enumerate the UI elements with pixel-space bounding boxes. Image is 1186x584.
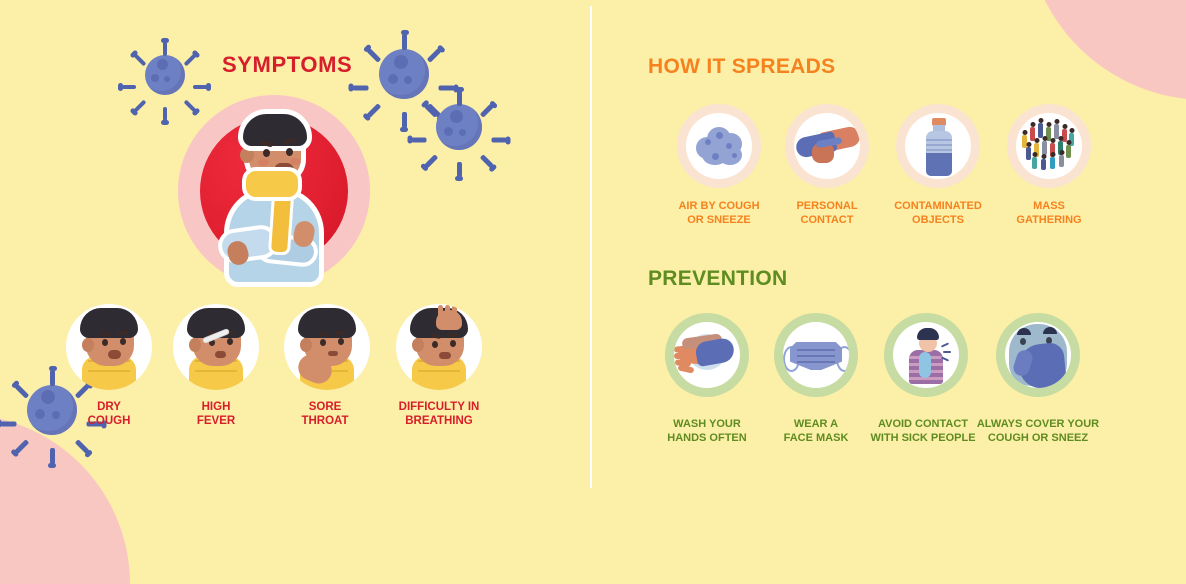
prevention-label-line2: COUGH OR SNEEZ <box>968 432 1108 446</box>
spread-icon-contaminated-objects <box>896 104 980 188</box>
symptom-label-line2: COUGH <box>49 414 169 428</box>
prevention-icon-cover-cough <box>996 313 1080 397</box>
symptom-label-line2: THROAT <box>265 414 385 428</box>
prevention-label-line1: ALWAYS COVER YOUR <box>968 418 1108 432</box>
cover-cough-icon <box>1005 322 1071 388</box>
prevention-heading: PREVENTION <box>648 267 788 291</box>
symptom-icon-sore-throat <box>284 304 370 390</box>
spreads-heading: HOW IT SPREADS <box>648 55 835 79</box>
water-bottle-icon <box>905 113 971 179</box>
symptom-label-difficulty-breathing: DIFFICULTY IN BREATHING <box>379 400 499 428</box>
symptom-label-line2: BREATHING <box>379 414 499 428</box>
symptom-label-line1: SORE <box>265 400 385 414</box>
symptom-icon-dry-cough <box>66 304 152 390</box>
virus-top-right-b <box>424 92 494 162</box>
symptom-label-high-fever: HIGH FEVER <box>156 400 276 428</box>
hero-figure <box>198 101 350 287</box>
handshake-icon <box>794 113 860 179</box>
washing-hands-icon <box>674 322 740 388</box>
symptom-label-line1: DIFFICULTY IN <box>379 400 499 414</box>
symptom-label-line1: DRY <box>49 400 169 414</box>
spread-label-line1: MASS <box>979 200 1119 214</box>
prevention-icon-face-mask <box>774 313 858 397</box>
panel-divider <box>590 6 592 488</box>
decor-swoosh-top-right <box>1026 0 1186 100</box>
sick-man-illustration <box>178 95 370 287</box>
droplet-cloud-icon <box>694 125 744 167</box>
spread-icon-air-by-cough <box>677 104 761 188</box>
spread-label-mass-gathering: MASS GATHERING <box>979 200 1119 227</box>
infographic-canvas: SYMPTOMS <box>0 0 1186 494</box>
prevention-icon-avoid-sick-people <box>884 313 968 397</box>
spread-icon-personal-contact <box>785 104 869 188</box>
prevention-label-cover-cough: ALWAYS COVER YOUR COUGH OR SNEEZ <box>968 418 1108 445</box>
symptom-icon-difficulty-breathing <box>396 304 482 390</box>
sick-person-icon <box>893 322 959 388</box>
symptom-label-dry-cough: DRY COUGH <box>49 400 169 428</box>
symptom-label-line1: HIGH <box>156 400 276 414</box>
prevention-icon-wash-hands <box>665 313 749 397</box>
face-mask-icon <box>783 322 849 388</box>
spread-icon-mass-gathering <box>1007 104 1091 188</box>
symptom-icon-high-fever <box>173 304 259 390</box>
symptom-label-line2: FEVER <box>156 414 276 428</box>
spread-label-line2: GATHERING <box>979 214 1119 228</box>
symptoms-heading: SYMPTOMS <box>222 52 352 78</box>
crowd-icon <box>1020 121 1078 171</box>
symptom-label-sore-throat: SORE THROAT <box>265 400 385 428</box>
